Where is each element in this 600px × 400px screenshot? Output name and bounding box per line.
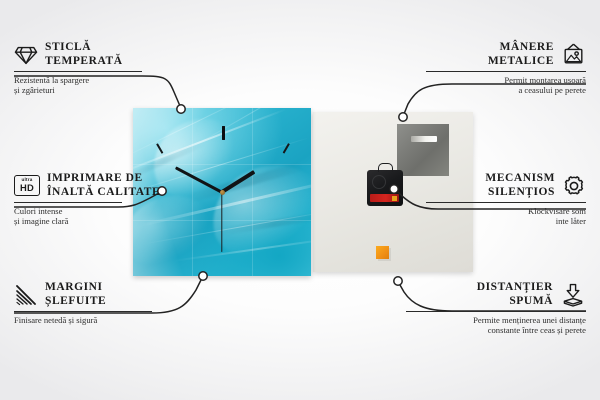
diamond-icon [14,45,38,65]
callout-imprimare-inalta-calitate: ultra HD IMPRIMARE DE ÎNALTĂ CALITATE Cu… [14,172,166,227]
callout-mecanism-silentios: MECANISM SILENȚIOS Klockvisare som inte … [426,172,586,227]
callout-subtitle: Permit montarea ușoară a ceasului pe per… [426,75,586,96]
callout-rule [426,71,586,72]
callout-header: DISTANȚIER SPUMĂ [406,281,586,308]
gear-icon [562,174,586,198]
ultra-hd-icon: ultra HD [14,175,40,196]
ultra-hd-icon-big-label: HD [20,183,34,192]
callout-subtitle: Klockvisare som inte låter [426,206,586,227]
quartz-movement [367,170,403,206]
callout-header: MARGINI ȘLEFUITE [14,281,162,308]
movement-dial [372,175,386,189]
product-image [133,108,473,276]
callout-distantier-spuma: DISTANȚIER SPUMĂ Permite menținerea unei… [406,281,586,336]
hanging-frame-icon [561,43,586,67]
callout-title: STICLĂ TEMPERATĂ [45,41,123,68]
callout-title: DISTANȚIER SPUMĂ [477,281,553,308]
hanger-slot [411,136,437,142]
hour-marker [156,143,164,154]
movement-hanging-loop [378,163,393,172]
polished-edges-icon [14,284,38,306]
callout-rule [14,202,122,203]
minute-hand [175,166,222,193]
callout-header: MÂNERE METALICE [426,41,586,68]
hour-marker [283,143,291,154]
callout-header: MECANISM SILENȚIOS [426,172,586,199]
callout-title: MÂNERE METALICE [488,41,554,68]
hands-center-cap [220,190,225,195]
callout-subtitle: Permite menținerea unei distanțe constan… [406,315,586,336]
callout-header: STICLĂ TEMPERATĂ [14,41,154,68]
hour-hand [221,170,255,194]
callout-margini-slefuite: MARGINI ȘLEFUITE Finisare netedă și sigu… [14,281,162,325]
callout-rule [426,202,586,203]
battery-plus-terminal [392,196,397,201]
leader-dot-distantier [394,277,402,285]
metal-hanger-plate [397,124,449,176]
foam-spacer-icon [560,283,586,307]
hour-marker [222,126,225,140]
foam-spacer [376,246,389,259]
callout-title: IMPRIMARE DE ÎNALTĂ CALITATE [47,172,160,199]
battery [370,194,399,202]
callout-manere-metalice: MÂNERE METALICE Permit montarea ușoară a… [426,41,586,96]
callout-header: ultra HD IMPRIMARE DE ÎNALTĂ CALITATE [14,172,166,199]
callout-title: MECANISM SILENȚIOS [485,172,555,199]
callout-rule [406,311,586,312]
second-hand [221,192,222,252]
callout-subtitle: Culori intense și imagine clară [14,206,166,227]
callout-title: MARGINI ȘLEFUITE [45,281,106,308]
infographic-canvas: STICLĂ TEMPERATĂ Rezistentă la spargere … [0,0,600,400]
callout-rule [14,311,152,312]
callout-sticla-temperata: STICLĂ TEMPERATĂ Rezistentă la spargere … [14,41,154,96]
callout-subtitle: Rezistentă la spargere și zgârieturi [14,75,154,96]
callout-rule [14,71,142,72]
callout-subtitle: Finisare netedă și sigură [14,315,162,325]
